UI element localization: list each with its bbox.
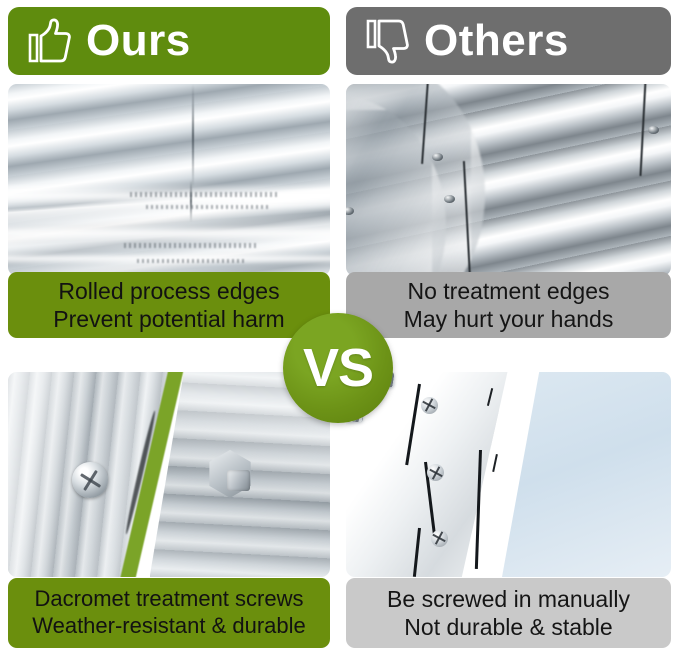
header-others: Others: [346, 7, 671, 75]
caption-bottom-right: Be screwed in manually Not durable & sta…: [346, 578, 671, 648]
vs-badge-label: VS: [303, 341, 373, 395]
rolled-edge-photo: [8, 84, 330, 276]
manual-screw-wingbolt-photo: [346, 372, 671, 577]
vs-badge: VS: [283, 313, 393, 423]
caption-line: No treatment edges: [407, 277, 609, 305]
caption-line: May hurt your hands: [404, 305, 614, 333]
untreated-edge-photo: [346, 84, 671, 276]
header-ours-label: Ours: [86, 19, 191, 63]
thumbs-up-icon: [26, 17, 72, 65]
caption-top-left: Rolled process edges Prevent potential h…: [8, 272, 330, 338]
photo-panel-bottom-left: [8, 372, 330, 577]
small-screw-graphic: [421, 397, 438, 414]
caption-bottom-left: Dacromet treatment screws Weather-resist…: [8, 578, 330, 648]
caption-line: Prevent potential harm: [53, 305, 284, 333]
header-ours: Ours: [8, 7, 330, 75]
caption-line: Rolled process edges: [58, 277, 279, 305]
photo-panel-top-left: [8, 84, 330, 276]
small-screw-graphic: [431, 530, 448, 547]
header-others-label: Others: [424, 19, 569, 63]
caption-line: Weather-resistant & durable: [32, 613, 306, 640]
caption-top-right: No treatment edges May hurt your hands: [346, 272, 671, 338]
thumbs-down-icon: [364, 17, 410, 65]
photo-panel-top-right: [346, 84, 671, 276]
photo-panel-bottom-right: [346, 372, 671, 577]
caption-line: Dacromet treatment screws: [35, 586, 304, 613]
comparison-infographic: Ours Others: [0, 0, 679, 655]
caption-line: Be screwed in manually: [387, 585, 630, 613]
dacromet-screw-photo: [8, 372, 330, 577]
caption-line: Not durable & stable: [404, 613, 612, 641]
